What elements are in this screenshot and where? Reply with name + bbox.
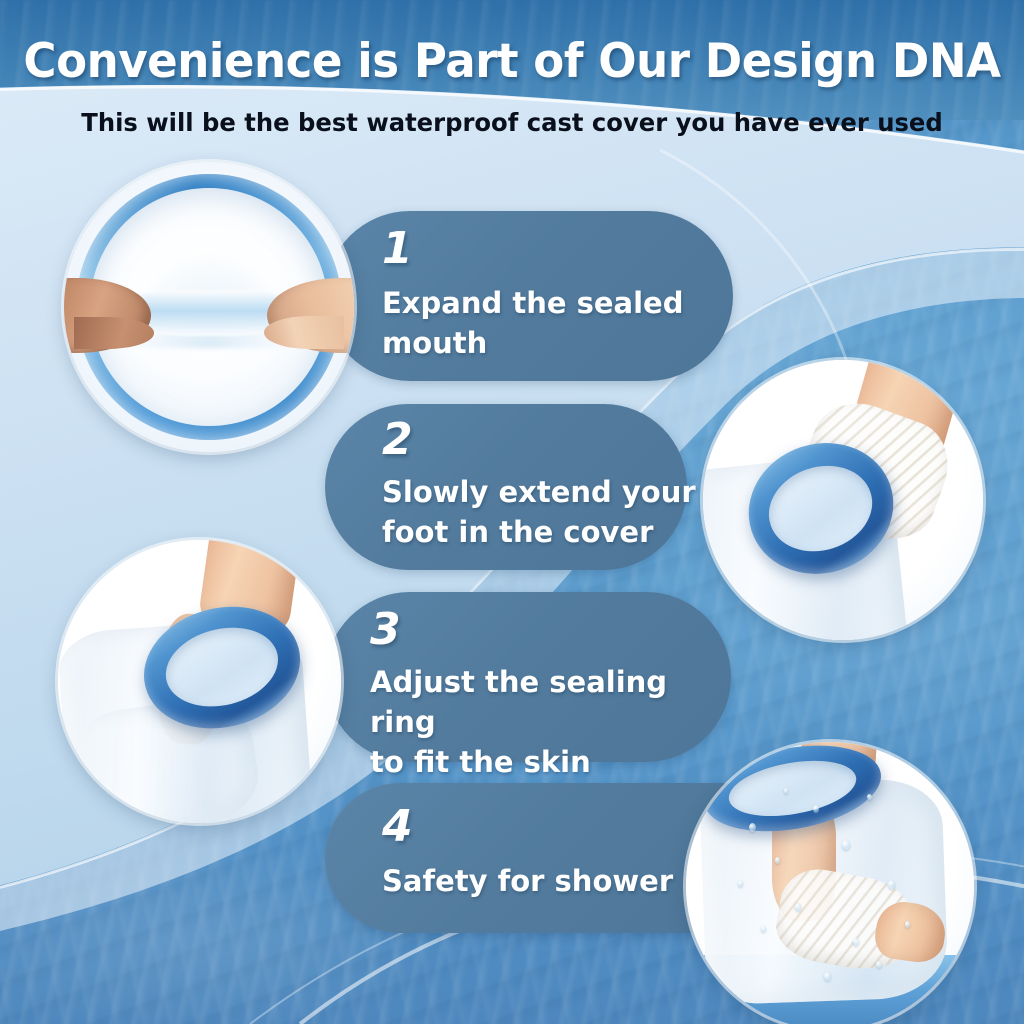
step-number-3: 3 bbox=[370, 604, 401, 655]
photo-foot-entering-cover bbox=[703, 360, 983, 640]
step-pill-3: 3 Adjust the sealing ring to fit the ski… bbox=[325, 592, 731, 762]
step-text-1: Expand the sealed mouth bbox=[382, 283, 712, 363]
step-text-2-line1: Slowly extend your bbox=[382, 472, 702, 512]
water-droplets bbox=[686, 742, 974, 1024]
step-photo-1 bbox=[64, 162, 354, 452]
step-text-3-line1: Adjust the sealing ring bbox=[370, 662, 730, 742]
step-number-4: 4 bbox=[382, 801, 413, 852]
step-photo-4 bbox=[686, 742, 974, 1024]
page-subtitle: This will be the best waterproof cast co… bbox=[15, 108, 1008, 137]
step-text-3: Adjust the sealing ring to fit the skin bbox=[370, 662, 730, 782]
infographic-poster: Convenience is Part of Our Design DNA Th… bbox=[0, 0, 1024, 1024]
step-pill-1: 1 Expand the sealed mouth bbox=[325, 211, 733, 381]
photo-hands-stretching-cover bbox=[64, 162, 354, 452]
step-text-2-line2: foot in the cover bbox=[382, 512, 702, 552]
step-text-3-line2: to fit the skin bbox=[370, 742, 730, 782]
step-photo-3 bbox=[58, 540, 341, 823]
photo-safety-for-shower bbox=[686, 742, 974, 1024]
step-pill-2: 2 Slowly extend your foot in the cover bbox=[325, 404, 687, 570]
step-text-1-line1: Expand the sealed bbox=[382, 283, 712, 323]
step-photo-2 bbox=[703, 360, 983, 640]
step-text-1-line2: mouth bbox=[382, 323, 712, 363]
page-title: Convenience is Part of Our Design DNA bbox=[20, 34, 1003, 89]
step-number-2: 2 bbox=[382, 414, 413, 465]
step-text-2: Slowly extend your foot in the cover bbox=[382, 472, 702, 552]
step-number-1: 1 bbox=[382, 223, 413, 274]
photo-adjust-sealing-ring bbox=[58, 540, 341, 823]
